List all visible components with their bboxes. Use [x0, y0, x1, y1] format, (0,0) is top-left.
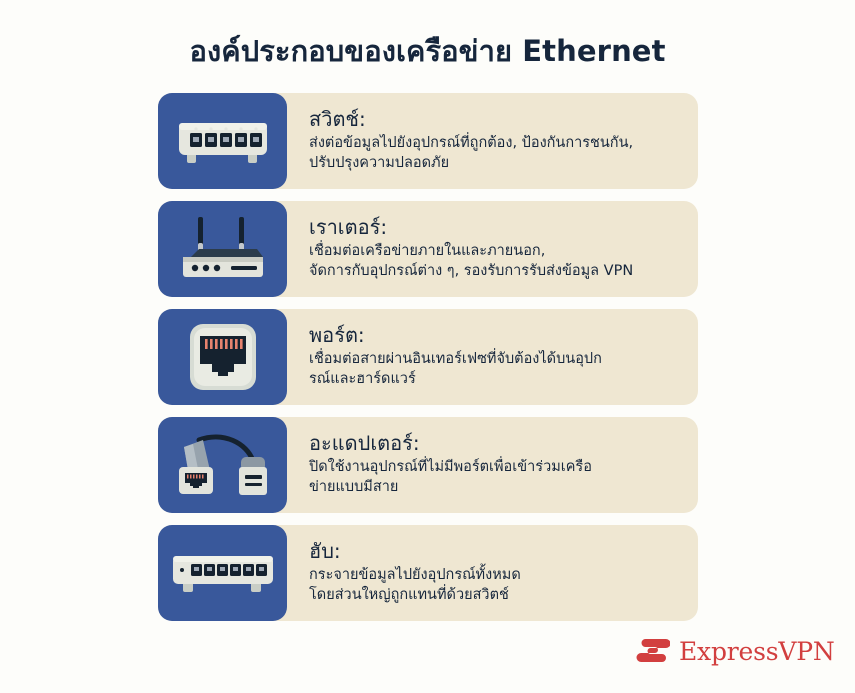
card-text-block: พอร์ต: เชื่อมต่อสายผ่านอินเทอร์เฟซที่จับ… [287, 309, 698, 405]
expressvpn-wordmark: ExpressVPN [679, 639, 835, 664]
page-title: องค์ประกอบของเครือข่าย Ethernet [0, 32, 855, 70]
list-item: เราเตอร์: เชื่อมต่อเครือข่ายภายในและภายน… [158, 201, 698, 297]
network-hub-icon [169, 542, 277, 604]
network-switch-icon [173, 107, 273, 175]
card-text-block: อะแดปเตอร์: ปิดใช้งานอุปกรณ์ที่ไม่มีพอร์… [287, 417, 698, 513]
card-text-block: เราเตอร์: เชื่อมต่อเครือข่ายภายในและภายน… [287, 201, 698, 297]
list-item: ฮับ: กระจายข้อมูลไปยังอุปกรณ์ทั้งหมด โดย… [158, 525, 698, 621]
card-description: เชื่อมต่อเครือข่ายภายในและภายนอก, จัดการ… [309, 241, 676, 281]
expressvpn-e-mark-icon [636, 636, 670, 666]
card-description: เชื่อมต่อสายผ่านอินเทอร์เฟซที่จับต้องได้… [309, 349, 676, 389]
card-term: พอร์ต: [309, 322, 676, 348]
component-card-list: สวิตช์: ส่งต่อข้อมูลไปยังอุปกรณ์ที่ถูกต้… [158, 93, 698, 621]
ethernet-port-icon [188, 322, 258, 392]
icon-tile-adapter [158, 417, 287, 513]
icon-tile-switch [158, 93, 287, 189]
infographic-page: องค์ประกอบของเครือข่าย Ethernet [0, 0, 855, 693]
card-term: ฮับ: [309, 538, 676, 564]
card-text-block: ฮับ: กระจายข้อมูลไปยังอุปกรณ์ทั้งหมด โดย… [287, 525, 698, 621]
icon-tile-port [158, 309, 287, 405]
list-item: พอร์ต: เชื่อมต่อสายผ่านอินเทอร์เฟซที่จับ… [158, 309, 698, 405]
icon-tile-router [158, 201, 287, 297]
card-description: กระจายข้อมูลไปยังอุปกรณ์ทั้งหมด โดยส่วนใ… [309, 565, 676, 605]
usb-ethernet-adapter-icon [171, 427, 275, 503]
card-text-block: สวิตช์: ส่งต่อข้อมูลไปยังอุปกรณ์ที่ถูกต้… [287, 93, 698, 189]
card-term: อะแดปเตอร์: [309, 430, 676, 456]
card-term: สวิตช์: [309, 106, 676, 132]
wifi-router-icon [173, 211, 273, 287]
icon-tile-hub [158, 525, 287, 621]
card-description: ปิดใช้งานอุปกรณ์ที่ไม่มีพอร์ตเพื่อเข้าร่… [309, 457, 676, 497]
expressvpn-logo: ExpressVPN [636, 636, 835, 666]
list-item: สวิตช์: ส่งต่อข้อมูลไปยังอุปกรณ์ที่ถูกต้… [158, 93, 698, 189]
card-description: ส่งต่อข้อมูลไปยังอุปกรณ์ที่ถูกต้อง, ป้อง… [309, 133, 676, 173]
list-item: อะแดปเตอร์: ปิดใช้งานอุปกรณ์ที่ไม่มีพอร์… [158, 417, 698, 513]
card-term: เราเตอร์: [309, 214, 676, 240]
